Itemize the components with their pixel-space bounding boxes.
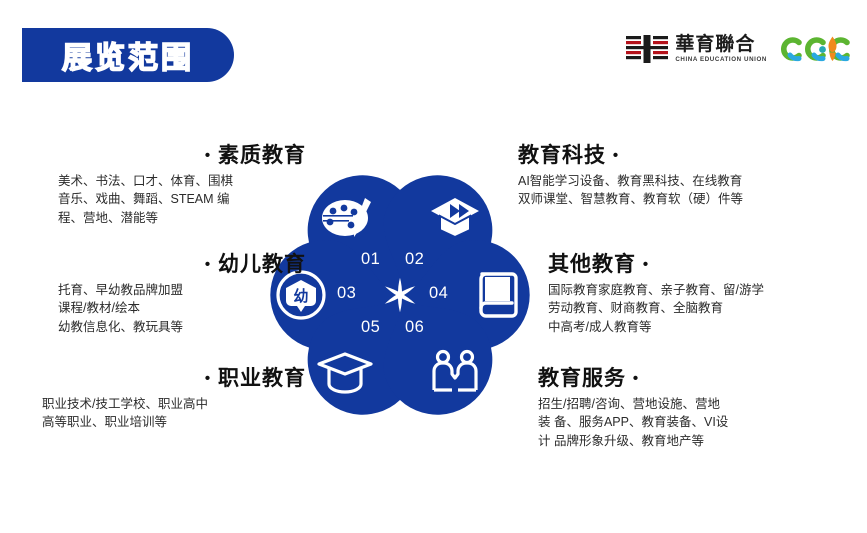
- category-details-zhiye: 职业技术/技工学校、职业高中 高等职业、职业培训等: [42, 395, 306, 431]
- china-education-union-logo: 華育聯合 CHINA EDUCATION UNION: [626, 35, 767, 63]
- slide-canvas: 展览范围 華育聯合 CHINA EDUCATION UNION: [0, 0, 867, 533]
- category-details-suzhi: 美术、书法、口才、体育、围棋 音乐、戏曲、舞蹈、STEAM 编 程、营地、潜能等: [58, 172, 306, 226]
- bullet-dot-icon: •: [205, 256, 211, 273]
- logo-group: 華育聯合 CHINA EDUCATION UNION: [626, 34, 855, 64]
- category-details-keji: AI智能学习设备、教育黑科技、在线教育 双师课堂、智慧教育、教育软（硬）件等: [518, 172, 818, 208]
- category-title-text: 职业教育: [218, 367, 306, 390]
- category-block-suzhi: • 素质教育 美术、书法、口才、体育、围棋 音乐、戏曲、舞蹈、STEAM 编 程…: [58, 143, 306, 227]
- category-title-keji: 教育科技 •: [518, 143, 818, 169]
- category-title-suzhi: • 素质教育: [58, 143, 306, 169]
- category-title-text: 教育科技: [518, 144, 606, 167]
- bullet-dot-icon: •: [205, 370, 211, 387]
- category-title-zhiye: • 职业教育: [42, 366, 306, 392]
- category-title-fuwu: 教育服务 •: [538, 366, 838, 392]
- union-name-en: CHINA EDUCATION UNION: [675, 57, 767, 63]
- category-title-text: 其他教育: [548, 253, 636, 276]
- category-block-qita: 其他教育 • 国际教育家庭教育、亲子教育、留/游学 劳动教育、财商教育、全脑教育…: [548, 252, 848, 336]
- category-details-qita: 国际教育家庭教育、亲子教育、留/游学 劳动教育、财商教育、全脑教育 中高考/成人…: [548, 281, 848, 335]
- union-name-cn: 華育聯合: [675, 35, 755, 54]
- category-title-qita: 其他教育 •: [548, 252, 848, 278]
- category-title-youer: • 幼儿教育: [58, 252, 306, 278]
- category-block-fuwu: 教育服务 • 招生/招聘/咨询、营地设施、营地 装 备、服务APP、教育装备、V…: [538, 366, 838, 450]
- bullet-dot-icon: •: [643, 256, 649, 273]
- category-title-text: 教育服务: [538, 367, 626, 390]
- category-title-text: 素质教育: [218, 144, 306, 167]
- category-title-text: 幼儿教育: [218, 253, 306, 276]
- category-details-youer: 托育、早幼教品牌加盟 课程/教材/绘本 幼教信息化、教玩具等: [58, 281, 306, 335]
- category-block-keji: 教育科技 • AI智能学习设备、教育黑科技、在线教育 双师课堂、智慧教育、教育软…: [518, 143, 818, 209]
- bullet-dot-icon: •: [613, 147, 619, 164]
- union-emblem-icon: [626, 35, 668, 63]
- bullet-dot-icon: •: [205, 147, 211, 164]
- page-title: 展览范围: [62, 33, 194, 77]
- section-title-banner: 展览范围: [22, 28, 234, 82]
- category-details-fuwu: 招生/招聘/咨询、营地设施、营地 装 备、服务APP、教育装备、VI设 计 品牌…: [538, 395, 838, 449]
- category-block-youer: • 幼儿教育 托育、早幼教品牌加盟 课程/教材/绘本 幼教信息化、教玩具等: [58, 252, 306, 336]
- union-wordmark: 華育聯合 CHINA EDUCATION UNION: [675, 35, 767, 63]
- cec-logo-icon: [781, 34, 855, 64]
- bullet-dot-icon: •: [633, 370, 639, 387]
- category-block-zhiye: • 职业教育 职业技术/技工学校、职业高中 高等职业、职业培训等: [42, 366, 306, 432]
